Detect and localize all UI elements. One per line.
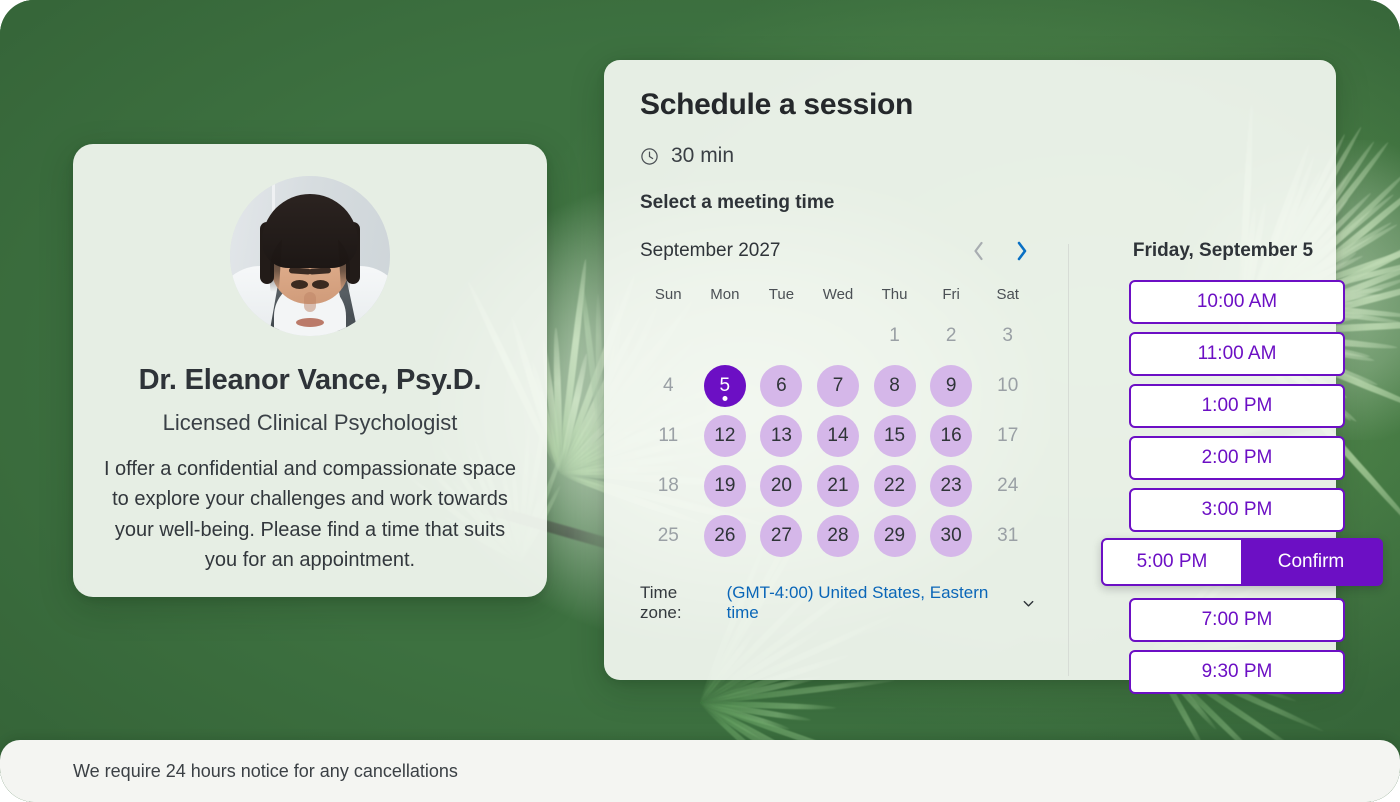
time-slot-row: 7:00 PM <box>1101 598 1345 642</box>
calendar-day-10: 10 <box>987 365 1029 407</box>
selected-slot-group: 5:00 PMConfirm <box>1101 538 1383 586</box>
time-slot-9-30-pm[interactable]: 9:30 PM <box>1129 650 1345 694</box>
calendar: September 2027 <box>640 238 1036 702</box>
calendar-day-13[interactable]: 13 <box>760 415 802 457</box>
timezone-row: Time zone: (GMT-4:00) United States, Eas… <box>640 583 1036 623</box>
time-slot-3-00-pm[interactable]: 3:00 PM <box>1129 488 1345 532</box>
time-slot-2-00-pm[interactable]: 2:00 PM <box>1129 436 1345 480</box>
chevron-left-icon <box>972 240 985 262</box>
calendar-cell: 3 <box>979 311 1036 361</box>
calendar-cell: 18 <box>640 461 697 511</box>
prev-month-button[interactable] <box>968 238 989 264</box>
calendar-day-4: 4 <box>647 365 689 407</box>
scheduler-panel: Schedule a session 30 min Select a meeti… <box>604 60 1336 680</box>
weekday-wed: Wed <box>810 286 867 303</box>
calendar-day-29[interactable]: 29 <box>874 515 916 557</box>
calendar-day-19[interactable]: 19 <box>704 465 746 507</box>
time-slot-row: 2:00 PM <box>1101 436 1345 480</box>
time-slot-row: 9:30 PM <box>1101 650 1345 694</box>
cancellation-notice: We require 24 hours notice for any cance… <box>73 761 458 782</box>
calendar-cell: 10 <box>979 361 1036 411</box>
doctor-title: Licensed Clinical Psychologist <box>163 410 458 436</box>
calendar-cell: 21 <box>810 461 867 511</box>
calendar-weekday-header: SunMonTueWedThuFriSat <box>640 286 1036 303</box>
weekday-thu: Thu <box>866 286 923 303</box>
calendar-header: September 2027 <box>640 238 1036 264</box>
calendar-month-label: September 2027 <box>640 240 781 262</box>
chevron-right-icon <box>1015 240 1028 262</box>
timezone-label: Time zone: <box>640 583 721 623</box>
calendar-cell: 2 <box>923 311 980 361</box>
calendar-cell: 7 <box>810 361 867 411</box>
next-month-button[interactable] <box>1011 238 1032 264</box>
calendar-cell: 31 <box>979 511 1036 561</box>
calendar-cell: 15 <box>866 411 923 461</box>
calendar-day-31: 31 <box>987 515 1029 557</box>
calendar-day-7[interactable]: 7 <box>817 365 859 407</box>
time-slot-row: 1:00 PM <box>1101 384 1345 428</box>
calendar-day-11: 11 <box>647 415 689 457</box>
time-slots-panel: Friday, September 5 10:00 AM11:00 AM1:00… <box>1069 238 1345 702</box>
calendar-day-21[interactable]: 21 <box>817 465 859 507</box>
weekday-mon: Mon <box>697 286 754 303</box>
weekday-sat: Sat <box>979 286 1036 303</box>
calendar-cell: 26 <box>697 511 754 561</box>
calendar-day-26[interactable]: 26 <box>704 515 746 557</box>
doctor-name: Dr. Eleanor Vance, Psy.D. <box>139 364 482 397</box>
calendar-day-24: 24 <box>987 465 1029 507</box>
calendar-day-grid: 1234567891011121314151617181920212223242… <box>640 311 1036 561</box>
calendar-cell: 30 <box>923 511 980 561</box>
time-slot-7-00-pm[interactable]: 7:00 PM <box>1129 598 1345 642</box>
time-slot-row: 3:00 PM <box>1101 488 1345 532</box>
chevron-down-icon[interactable] <box>1021 596 1036 611</box>
calendar-day-17: 17 <box>987 415 1029 457</box>
calendar-day-18: 18 <box>647 465 689 507</box>
calendar-day-2: 2 <box>930 315 972 357</box>
calendar-cell: 5 <box>697 361 754 411</box>
calendar-blank-cell <box>810 311 867 361</box>
doctor-profile-card: Dr. Eleanor Vance, Psy.D. Licensed Clini… <box>73 144 547 597</box>
selected-date-heading: Friday, September 5 <box>1101 240 1345 262</box>
timezone-select[interactable]: (GMT-4:00) United States, Eastern time <box>727 583 1015 623</box>
calendar-day-22[interactable]: 22 <box>874 465 916 507</box>
calendar-cell: 13 <box>753 411 810 461</box>
calendar-day-3: 3 <box>987 315 1029 357</box>
calendar-day-30[interactable]: 30 <box>930 515 972 557</box>
calendar-day-25: 25 <box>647 515 689 557</box>
calendar-cell: 17 <box>979 411 1036 461</box>
calendar-day-14[interactable]: 14 <box>817 415 859 457</box>
calendar-cell: 28 <box>810 511 867 561</box>
duration-label: 30 min <box>671 144 734 168</box>
calendar-day-12[interactable]: 12 <box>704 415 746 457</box>
time-slot-row: 10:00 AM <box>1101 280 1345 324</box>
weekday-fri: Fri <box>923 286 980 303</box>
calendar-cell: 20 <box>753 461 810 511</box>
calendar-day-27[interactable]: 27 <box>760 515 802 557</box>
calendar-cell: 4 <box>640 361 697 411</box>
calendar-day-23[interactable]: 23 <box>930 465 972 507</box>
calendar-cell: 19 <box>697 461 754 511</box>
time-slot-row: 11:00 AM <box>1101 332 1345 376</box>
calendar-day-16[interactable]: 16 <box>930 415 972 457</box>
duration-row: 30 min <box>640 144 1306 168</box>
calendar-cell: 6 <box>753 361 810 411</box>
time-slot-11-00-am[interactable]: 11:00 AM <box>1129 332 1345 376</box>
calendar-day-20[interactable]: 20 <box>760 465 802 507</box>
calendar-day-9[interactable]: 9 <box>930 365 972 407</box>
calendar-cell: 27 <box>753 511 810 561</box>
calendar-cell: 9 <box>923 361 980 411</box>
calendar-cell: 25 <box>640 511 697 561</box>
calendar-day-28[interactable]: 28 <box>817 515 859 557</box>
page-title: Schedule a session <box>640 88 1306 122</box>
time-slot-list: 10:00 AM11:00 AM1:00 PM2:00 PM3:00 PM5:0… <box>1101 280 1345 694</box>
confirm-button[interactable]: Confirm <box>1241 540 1381 584</box>
calendar-day-6[interactable]: 6 <box>760 365 802 407</box>
calendar-day-5[interactable]: 5 <box>704 365 746 407</box>
section-heading: Select a meeting time <box>640 192 1306 214</box>
calendar-blank-cell <box>753 311 810 361</box>
calendar-blank-cell <box>640 311 697 361</box>
calendar-day-1: 1 <box>874 315 916 357</box>
doctor-bio: I offer a confidential and compassionate… <box>103 454 517 576</box>
calendar-day-15[interactable]: 15 <box>874 415 916 457</box>
avatar <box>230 176 390 336</box>
time-slot-10-00-am[interactable]: 10:00 AM <box>1129 280 1345 324</box>
clock-icon <box>640 147 659 166</box>
calendar-cell: 8 <box>866 361 923 411</box>
calendar-cell: 1 <box>866 311 923 361</box>
time-slot-5-00-pm[interactable]: 5:00 PM <box>1103 540 1241 584</box>
app-screen: Dr. Eleanor Vance, Psy.D. Licensed Clini… <box>0 0 1400 802</box>
time-slot-row: 5:00 PMConfirm <box>1101 540 1345 588</box>
calendar-cell: 22 <box>866 461 923 511</box>
footer-bar: We require 24 hours notice for any cance… <box>0 740 1400 802</box>
today-dot-indicator <box>722 396 727 401</box>
calendar-cell: 14 <box>810 411 867 461</box>
calendar-day-8[interactable]: 8 <box>874 365 916 407</box>
calendar-blank-cell <box>697 311 754 361</box>
calendar-cell: 16 <box>923 411 980 461</box>
weekday-tue: Tue <box>753 286 810 303</box>
calendar-cell: 24 <box>979 461 1036 511</box>
calendar-cell: 11 <box>640 411 697 461</box>
calendar-cell: 29 <box>866 511 923 561</box>
calendar-cell: 12 <box>697 411 754 461</box>
time-slot-1-00-pm[interactable]: 1:00 PM <box>1129 384 1345 428</box>
weekday-sun: Sun <box>640 286 697 303</box>
calendar-cell: 23 <box>923 461 980 511</box>
